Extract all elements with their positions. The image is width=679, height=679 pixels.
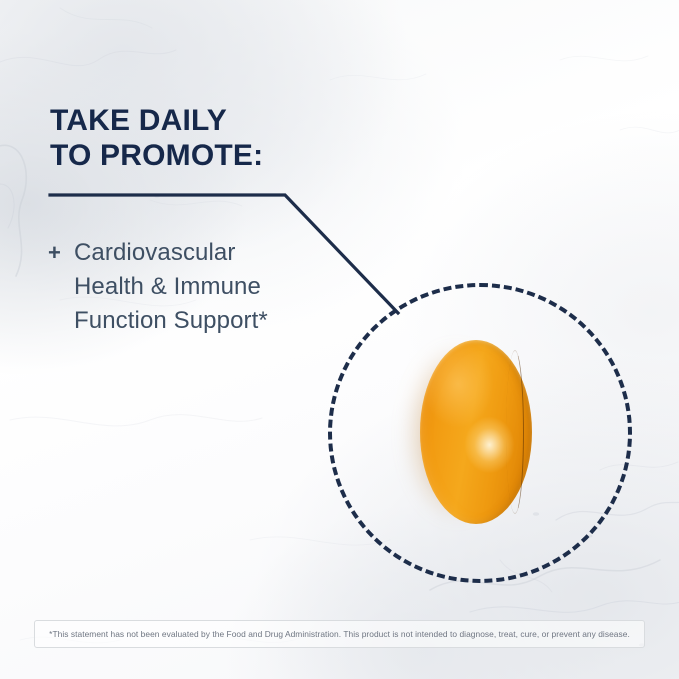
softgel-capsule: [404, 334, 554, 530]
benefit-text: Cardiovascular Health & Immune Function …: [74, 236, 268, 338]
disclaimer-box: *This statement has not been evaluated b…: [34, 620, 645, 648]
benefit-list-item: + Cardiovascular Health & Immune Functio…: [48, 236, 348, 338]
product-infographic: TAKE DAILY TO PROMOTE: + Cardiovascular …: [0, 0, 679, 679]
page-title: TAKE DAILY TO PROMOTE:: [50, 103, 380, 173]
capsule-body: [420, 340, 532, 524]
plus-bullet-icon: +: [48, 236, 74, 270]
capsule-seam-line: [506, 350, 524, 514]
disclaimer-text: *This statement has not been evaluated b…: [49, 629, 630, 640]
